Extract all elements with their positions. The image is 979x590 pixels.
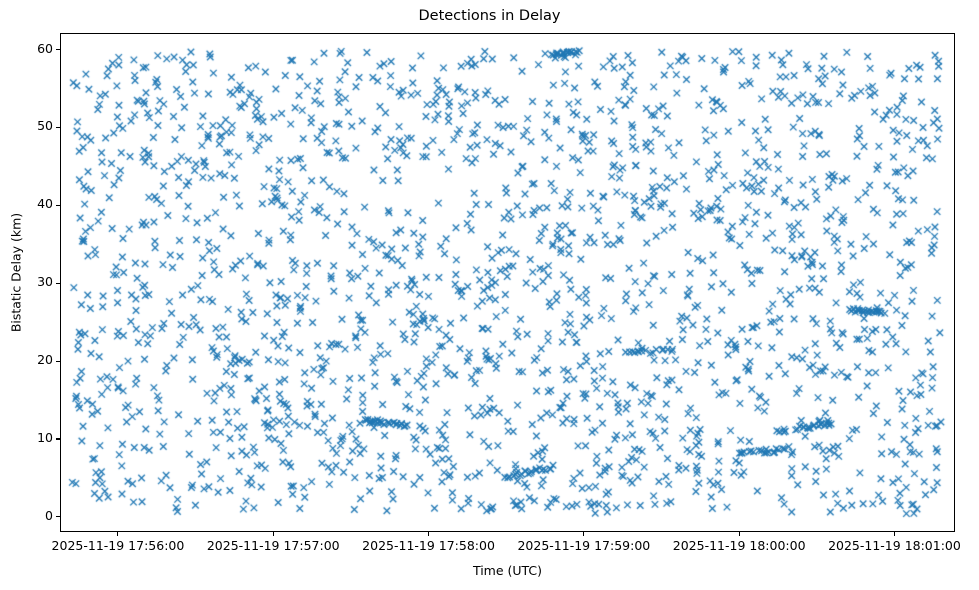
x-tick-label: 2025-11-19 17:57:00: [207, 538, 340, 553]
x-tick-mark: [273, 532, 274, 536]
x-tick-mark: [428, 532, 429, 536]
x-tick-mark: [583, 532, 584, 536]
x-axis-label: Time (UTC): [60, 563, 955, 578]
x-tick-label: 2025-11-19 17:58:00: [362, 538, 495, 553]
x-tick-mark: [117, 532, 118, 536]
scatter-plot-figure: Detections in Delay 0102030405060 2025-1…: [0, 0, 979, 590]
x-tick-label: 2025-11-19 17:59:00: [517, 538, 650, 553]
x-tick-label: 2025-11-19 17:56:00: [52, 538, 185, 553]
y-axis-label: Bistatic Delay (km): [9, 153, 24, 393]
x-axis: 2025-11-19 17:56:002025-11-19 17:57:0020…: [0, 0, 979, 590]
x-tick-mark: [739, 532, 740, 536]
x-tick-label: 2025-11-19 18:01:00: [828, 538, 961, 553]
x-tick-mark: [894, 532, 895, 536]
x-tick-label: 2025-11-19 18:00:00: [673, 538, 806, 553]
